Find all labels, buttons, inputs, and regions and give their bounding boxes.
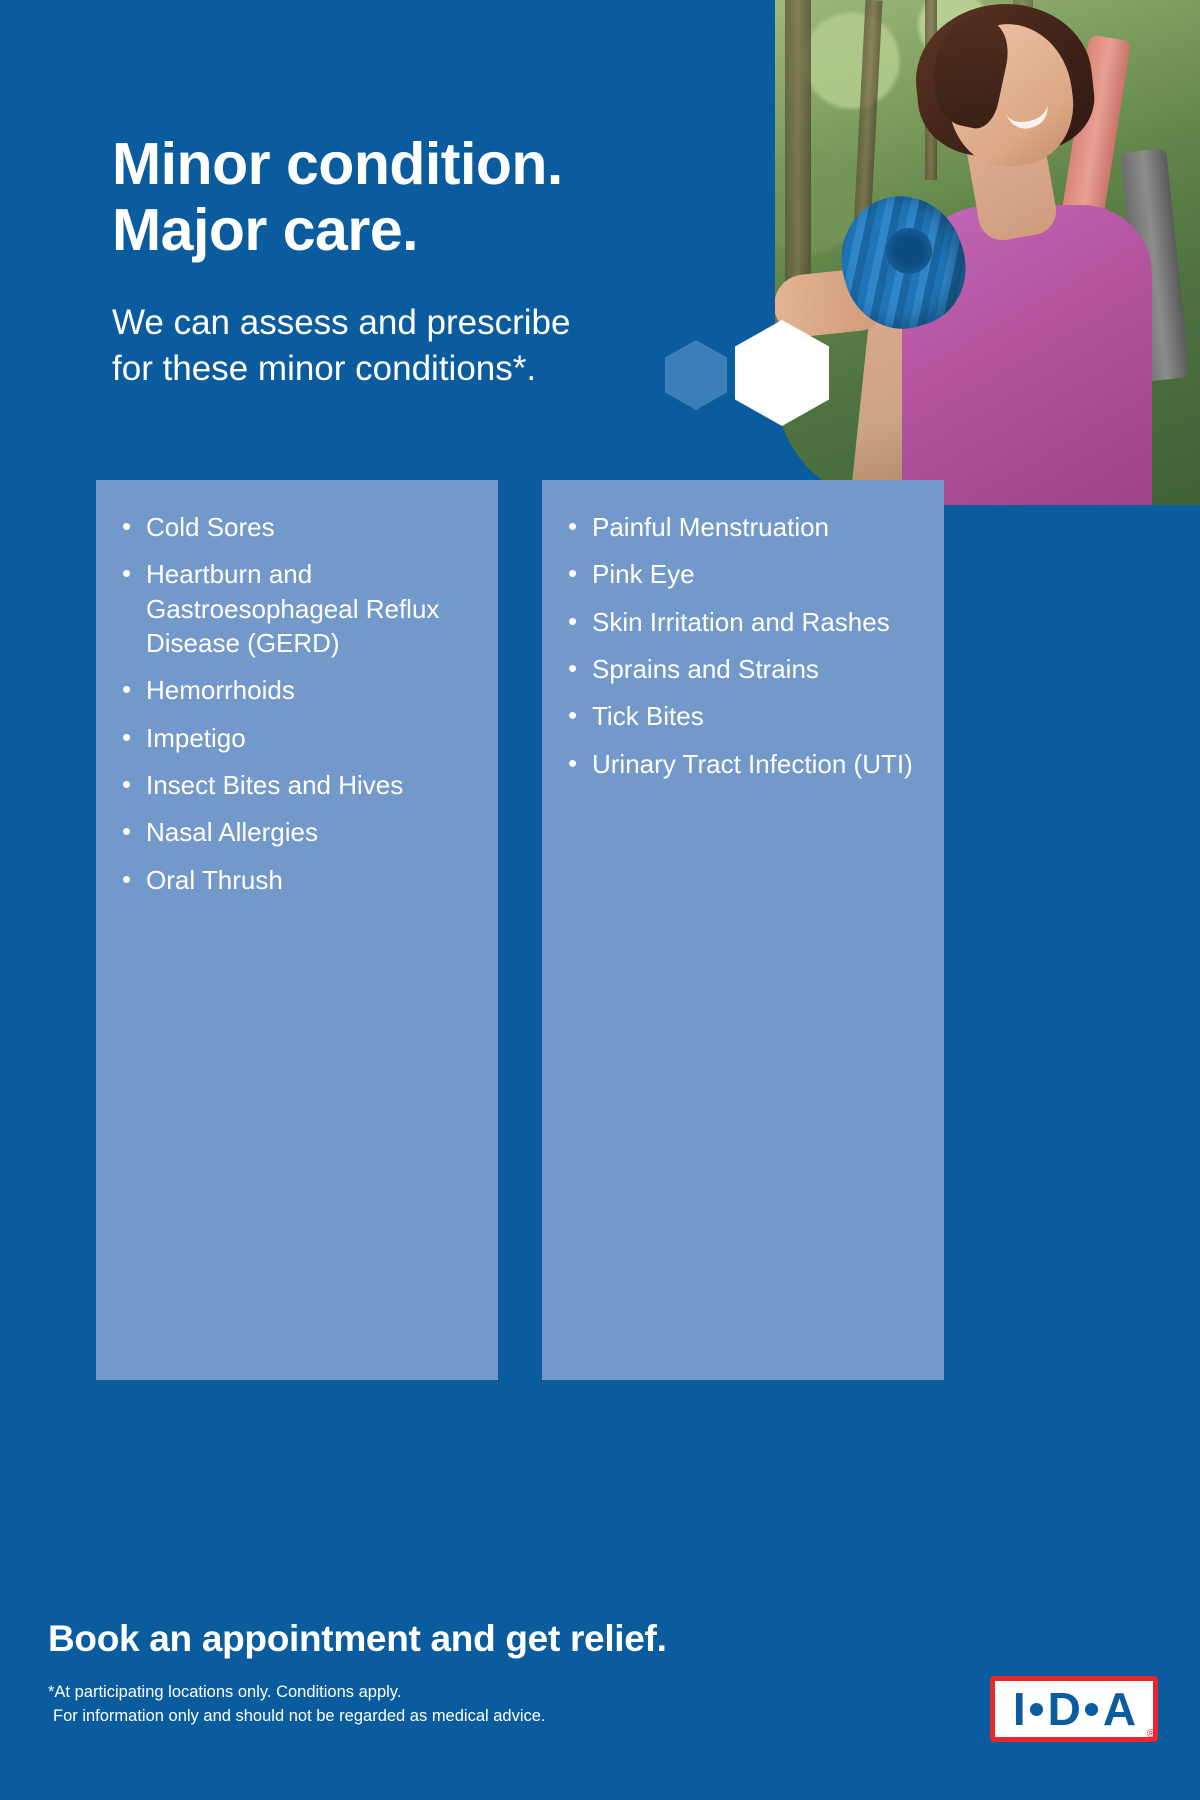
logo-letter-a: A [1103, 1686, 1135, 1732]
conditions-panel-right: Painful Menstruation Pink Eye Skin Irrit… [542, 480, 944, 1380]
page-subtitle: We can assess and prescribe for these mi… [112, 300, 672, 391]
list-item: Insect Bites and Hives [118, 768, 474, 802]
headline-line-2: Major care. [112, 197, 692, 263]
conditions-list-right: Painful Menstruation Pink Eye Skin Irrit… [542, 480, 944, 781]
poster-root: Minor condition. Major care. We can asse… [0, 0, 1200, 1800]
disclaimer-line-1: *At participating locations only. Condit… [48, 1680, 546, 1704]
list-item: Cold Sores [118, 510, 474, 544]
list-item: Painful Menstruation [564, 510, 920, 544]
disclaimer: *At participating locations only. Condit… [48, 1680, 546, 1729]
list-item: Heartburn and Gastroesophageal Reflux Di… [118, 557, 474, 660]
ida-logo: I D A ® [990, 1676, 1158, 1742]
conditions-panel-left: Cold Sores Heartburn and Gastroesophagea… [96, 480, 498, 1380]
list-item: Skin Irritation and Rashes [564, 605, 920, 639]
cta-text: Book an appointment and get relief. [48, 1618, 667, 1660]
list-item: Impetigo [118, 721, 474, 755]
list-item: Tick Bites [564, 699, 920, 733]
logo-letter-i: I [1013, 1686, 1025, 1732]
logo-letter-d: D [1048, 1686, 1080, 1732]
conditions-list-left: Cold Sores Heartburn and Gastroesophagea… [96, 480, 498, 897]
list-item: Sprains and Strains [564, 652, 920, 686]
headline-line-1: Minor condition. [112, 131, 692, 197]
disclaimer-line-2: For information only and should not be r… [48, 1704, 546, 1728]
subhead-line-2: for these minor conditions*. [112, 346, 672, 392]
list-item: Pink Eye [564, 557, 920, 591]
list-item: Urinary Tract Infection (UTI) [564, 747, 920, 781]
page-title: Minor condition. Major care. [112, 131, 692, 263]
subhead-line-1: We can assess and prescribe [112, 300, 672, 346]
list-item: Oral Thrush [118, 863, 474, 897]
list-item: Hemorrhoids [118, 673, 474, 707]
logo-dot-icon [1085, 1703, 1098, 1716]
hero-photo [775, 0, 1200, 505]
list-item: Nasal Allergies [118, 815, 474, 849]
hexagon-icon [665, 340, 727, 410]
logo-dot-icon [1030, 1703, 1043, 1716]
registered-mark: ® [1147, 1728, 1155, 1740]
